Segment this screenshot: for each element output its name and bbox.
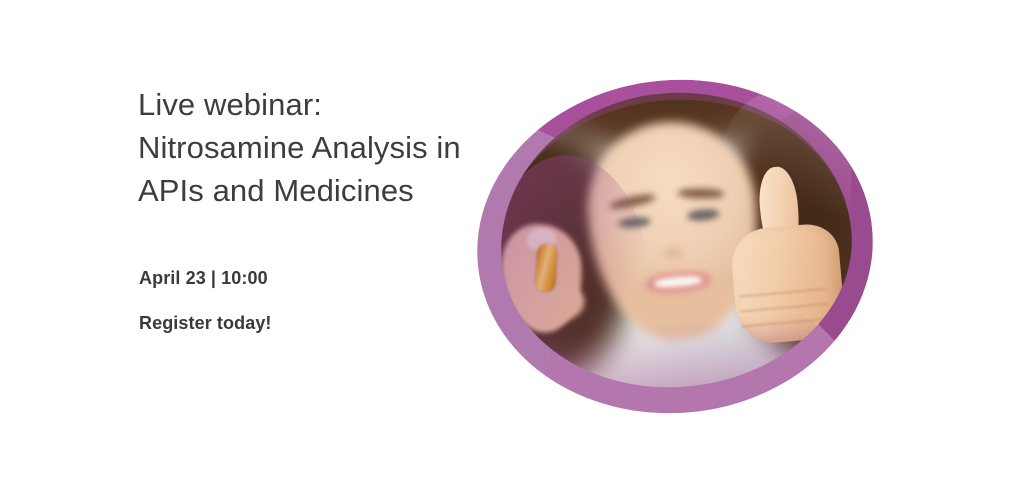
knuckle-crease xyxy=(739,288,828,297)
nose xyxy=(660,242,687,259)
hero-photo xyxy=(477,80,873,413)
page-title: Live webinar: Nitrosamine Analysis in AP… xyxy=(138,83,468,212)
fist xyxy=(728,221,846,345)
knuckle-crease xyxy=(741,318,830,327)
thumbs-up-hand xyxy=(723,162,851,346)
circular-photo-frame xyxy=(463,63,887,429)
register-cta[interactable]: Register today! xyxy=(139,289,272,334)
headline-line-3: APIs and Medicines xyxy=(138,169,468,212)
event-meta-block: April 23 | 10:00 Register today! xyxy=(139,268,272,334)
headline-line-2: Nitrosamine Analysis in xyxy=(138,126,468,169)
webinar-promo-banner: Live webinar: Nitrosamine Analysis in AP… xyxy=(0,0,1012,495)
headline-block: Live webinar: Nitrosamine Analysis in AP… xyxy=(138,83,468,212)
capsule-pill-icon xyxy=(535,244,558,292)
event-date-time: April 23 | 10:00 xyxy=(139,268,272,289)
headline-line-1: Live webinar: xyxy=(138,83,468,126)
knuckle-crease xyxy=(740,303,829,312)
photo-image xyxy=(480,77,869,409)
